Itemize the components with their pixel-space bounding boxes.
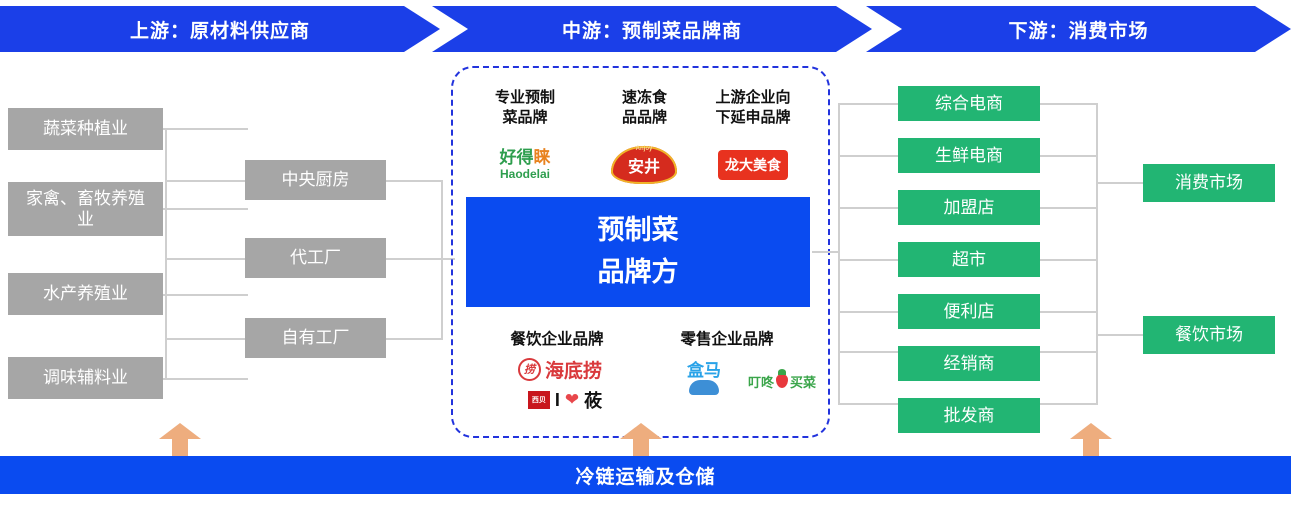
category-label-line2: 菜品牌 xyxy=(470,108,580,128)
connector xyxy=(838,403,900,405)
category-label-line1: 专业预制 xyxy=(470,88,580,108)
connector xyxy=(165,180,250,182)
brand-logo-haodelai-cn: 好得睐 xyxy=(500,149,551,166)
node-market-consumer[interactable]: 消费市场 xyxy=(1143,164,1275,202)
connector xyxy=(1040,311,1098,313)
connector xyxy=(838,351,900,353)
connector xyxy=(1096,182,1144,184)
node-channel[interactable]: 经销商 xyxy=(898,346,1040,381)
category-label-line2: 品品牌 xyxy=(592,108,697,128)
connector xyxy=(838,103,840,403)
brand-logo-dingdong-mark: 叮咚 买菜 xyxy=(748,372,816,391)
connector xyxy=(163,208,248,210)
brand-logo-dingdong-cn-a: 叮咚 xyxy=(748,372,774,391)
node-channel[interactable]: 生鲜电商 xyxy=(898,138,1040,173)
banner-downstream: 下游：消费市场 xyxy=(866,6,1291,52)
brand-logo-anjing: Anjoy 安井 xyxy=(608,144,680,186)
node-label: 加盟店 xyxy=(944,197,995,218)
brand-logo-dingdong-cn-b: 买菜 xyxy=(790,372,816,391)
category-frozen-food: 速冻食 品品牌 xyxy=(592,88,697,129)
node-core-prepared-dish-brand[interactable]: 预制菜 品牌方 xyxy=(466,197,810,307)
banner-upstream: 上游：原材料供应商 xyxy=(0,6,440,52)
connector xyxy=(163,128,248,130)
connector xyxy=(163,294,248,296)
connector xyxy=(1040,207,1098,209)
node-raw-material[interactable]: 蔬菜种植业 xyxy=(8,108,163,150)
connector xyxy=(385,338,443,340)
footer-label: 冷链运输及仓储 xyxy=(575,462,715,489)
node-label: 超市 xyxy=(952,249,986,270)
connector xyxy=(812,251,840,253)
node-label: 经销商 xyxy=(944,353,995,374)
brand-logo-hema-cn: 盒马 xyxy=(687,362,721,379)
footer-cold-chain-bar: 冷链运输及仓储 xyxy=(0,456,1291,494)
xibei-square-icon: 西贝 xyxy=(528,391,550,409)
cold-chain-arrow-icon xyxy=(159,423,201,459)
connector xyxy=(165,128,167,380)
banner-midstream-label: 中游：预制菜品牌商 xyxy=(562,16,742,43)
node-channel[interactable]: 综合电商 xyxy=(898,86,1040,121)
node-label: 水产养殖业 xyxy=(43,283,128,304)
node-label: 生鲜电商 xyxy=(935,145,1003,166)
category-label: 餐饮企业品牌 xyxy=(510,331,603,348)
node-raw-material[interactable]: 调味辅料业 xyxy=(8,357,163,399)
connector xyxy=(838,207,900,209)
brand-logo-haodelai: 好得睐 Haodelai xyxy=(477,143,573,185)
connector xyxy=(838,311,900,313)
node-raw-material[interactable]: 水产养殖业 xyxy=(8,273,163,315)
brand-logo-anjing-tiny: Anjoy xyxy=(636,146,653,152)
category-retail-enterprise-brand: 零售企业品牌 xyxy=(657,327,797,349)
cold-chain-arrow-icon xyxy=(620,423,662,459)
connector xyxy=(385,180,443,182)
connector xyxy=(1040,259,1098,261)
category-label-line1: 上游企业向 xyxy=(694,88,812,108)
connector xyxy=(1040,403,1098,405)
connector xyxy=(838,155,900,157)
core-label-line2: 品牌方 xyxy=(598,256,679,290)
brand-logo-xibei-i: I xyxy=(555,390,560,411)
connector xyxy=(165,338,250,340)
brand-logo-longda-mark: 龙大美食 xyxy=(718,150,788,180)
brand-logo-dingdong: 叮咚 买菜 xyxy=(734,370,830,392)
node-market-catering[interactable]: 餐饮市场 xyxy=(1143,316,1275,354)
connector xyxy=(838,103,900,105)
brand-logo-haodelai-en: Haodelai xyxy=(500,168,550,180)
haidilao-ring-icon: 捞 xyxy=(518,358,541,381)
brand-logo-anjing-mark: Anjoy 安井 xyxy=(611,146,677,184)
node-label: 调味辅料业 xyxy=(43,367,128,388)
node-label: 综合电商 xyxy=(935,93,1003,114)
node-label: 代工厂 xyxy=(290,247,341,268)
banner-upstream-label: 上游：原材料供应商 xyxy=(130,16,310,43)
node-label: 自有工厂 xyxy=(282,327,350,348)
node-label: 家禽、畜牧养殖业 xyxy=(22,188,149,231)
brand-logo-haidilao: 捞 海底捞 xyxy=(505,356,615,382)
cold-chain-arrow-icon xyxy=(1070,423,1112,459)
node-channel[interactable]: 批发商 xyxy=(898,398,1040,433)
connector xyxy=(1096,103,1098,403)
node-channel[interactable]: 加盟店 xyxy=(898,190,1040,225)
connector xyxy=(441,180,443,340)
node-processing[interactable]: 代工厂 xyxy=(245,238,386,278)
node-label: 消费市场 xyxy=(1175,172,1243,193)
node-label: 餐饮市场 xyxy=(1175,324,1243,345)
connector xyxy=(1040,155,1098,157)
brand-logo-anjing-cn: 安井 xyxy=(628,153,660,177)
node-label: 便利店 xyxy=(944,301,995,322)
brand-logo-xibei-cn: 莜 xyxy=(584,387,602,413)
core-label-line1: 预制菜 xyxy=(598,214,679,248)
connector xyxy=(165,258,250,260)
brand-logo-haidilao-cn: 海底捞 xyxy=(545,356,602,383)
category-label-line2: 下延申品牌 xyxy=(694,108,812,128)
connector xyxy=(163,378,248,380)
brand-logo-xibei: 西贝 I ❤ 莜 xyxy=(510,388,620,412)
connector xyxy=(1040,351,1098,353)
node-channel[interactable]: 便利店 xyxy=(898,294,1040,329)
banner-downstream-label: 下游：消费市场 xyxy=(1008,16,1148,43)
brand-logo-hema: 盒马 xyxy=(678,358,730,398)
connector xyxy=(1040,103,1098,105)
category-label-line1: 速冻食 xyxy=(592,88,697,108)
connector xyxy=(1096,334,1144,336)
hippo-icon xyxy=(689,380,719,395)
node-raw-material[interactable]: 家禽、畜牧养殖业 xyxy=(8,182,163,236)
brand-logo-xibei-mark: 西贝 I ❤ 莜 xyxy=(528,387,602,413)
node-processing[interactable]: 自有工厂 xyxy=(245,318,386,358)
brand-logo-hema-mark: 盒马 xyxy=(687,362,721,395)
node-channel[interactable]: 超市 xyxy=(898,242,1040,277)
brand-logo-haidilao-mark: 捞 海底捞 xyxy=(518,356,602,383)
category-professional-prepared-dish: 专业预制 菜品牌 xyxy=(470,88,580,129)
category-label: 零售企业品牌 xyxy=(680,331,773,348)
connector xyxy=(838,259,900,261)
radish-icon xyxy=(776,374,788,388)
brand-logo-longda: 龙大美食 xyxy=(716,148,790,182)
banner-midstream: 中游：预制菜品牌商 xyxy=(432,6,872,52)
node-label: 蔬菜种植业 xyxy=(43,118,128,139)
connector xyxy=(385,258,455,260)
node-label: 批发商 xyxy=(944,405,995,426)
node-processing[interactable]: 中央厨房 xyxy=(245,160,386,200)
node-label: 中央厨房 xyxy=(282,169,350,190)
category-catering-enterprise-brand: 餐饮企业品牌 xyxy=(487,327,627,349)
heart-icon: ❤ xyxy=(565,390,579,410)
brand-logo-longda-cn: 龙大美食 xyxy=(725,155,781,175)
category-upstream-extension: 上游企业向 下延申品牌 xyxy=(694,88,812,129)
